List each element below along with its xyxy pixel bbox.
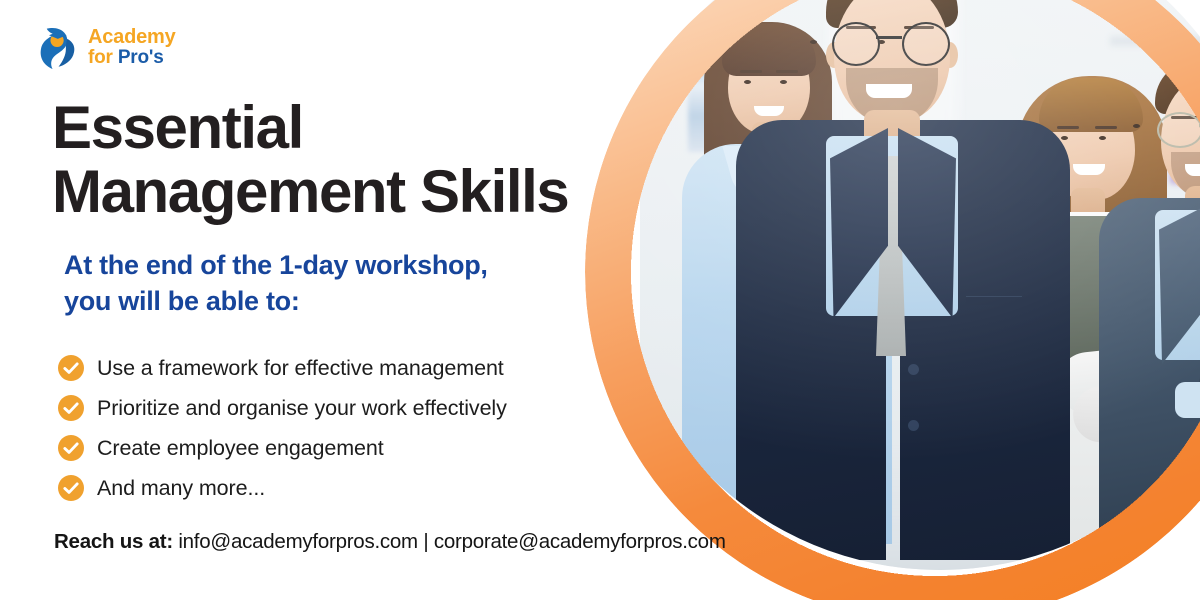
photo-background xyxy=(640,0,1200,600)
title-line-1: Essential xyxy=(52,94,303,161)
content-column: Academy for Pro's Essential Management S… xyxy=(0,0,660,600)
page-title: Essential Management Skills xyxy=(52,96,652,224)
eyeglasses-icon xyxy=(1155,112,1200,146)
list-item: Use a framework for effective management xyxy=(58,348,658,388)
subtitle-line-2: you will be able to: xyxy=(64,286,300,316)
list-item-label: And many more... xyxy=(97,476,265,501)
person-man-grey-suit xyxy=(1115,60,1200,540)
check-circle-icon xyxy=(58,475,84,501)
list-item: And many more... xyxy=(58,468,658,508)
subtitle-line-1: At the end of the 1-day workshop, xyxy=(64,250,488,280)
check-circle-icon xyxy=(58,435,84,461)
contact-emails[interactable]: info@academyforpros.com | corporate@acad… xyxy=(173,530,726,553)
brand-logo[interactable]: Academy for Pro's xyxy=(38,24,176,70)
logo-text-academy: Academy xyxy=(88,27,176,47)
list-item-label: Prioritize and organise your work effect… xyxy=(97,396,507,421)
list-item: Create employee engagement xyxy=(58,428,658,468)
list-item-label: Use a framework for effective management xyxy=(97,356,504,381)
check-circle-icon xyxy=(58,355,84,381)
contact-label: Reach us at: xyxy=(54,530,173,553)
academy-for-pros-logo-icon xyxy=(38,24,82,70)
title-line-2: Management Skills xyxy=(52,158,568,225)
wall-shelf xyxy=(1110,36,1200,46)
logo-text-for: for xyxy=(88,47,118,68)
contact-footer: Reach us at: info@academyforpros.com | c… xyxy=(54,530,726,554)
eyeglasses-icon xyxy=(828,22,956,62)
logo-text-pros: Pro's xyxy=(118,47,164,68)
promo-banner: Academy for Pro's Essential Management S… xyxy=(0,0,1200,600)
subtitle: At the end of the 1-day workshop, you wi… xyxy=(64,248,644,320)
learning-outcomes-list: Use a framework for effective management… xyxy=(58,348,658,508)
list-item-label: Create employee engagement xyxy=(97,436,384,461)
person-man-navy-suit xyxy=(790,0,1120,560)
check-circle-icon xyxy=(58,395,84,421)
business-team-photo xyxy=(640,0,1200,600)
list-item: Prioritize and organise your work effect… xyxy=(58,388,658,428)
